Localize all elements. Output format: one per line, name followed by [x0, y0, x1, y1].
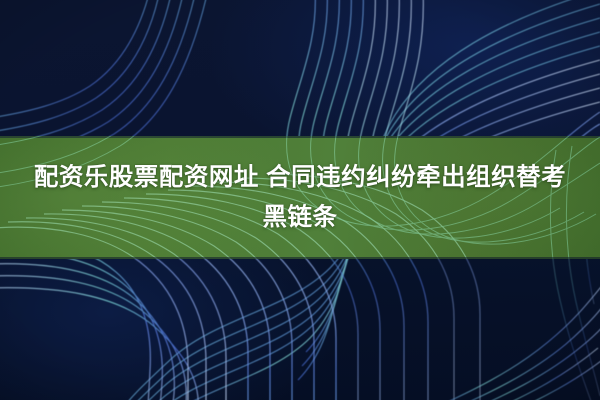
band-wave-lines	[0, 136, 600, 259]
band-bottom-edge	[0, 257, 600, 259]
green-band	[0, 136, 600, 259]
banner-image: 配资乐股票配资网址 合同违约纠纷牵出组织替考 黑链条	[0, 0, 600, 400]
